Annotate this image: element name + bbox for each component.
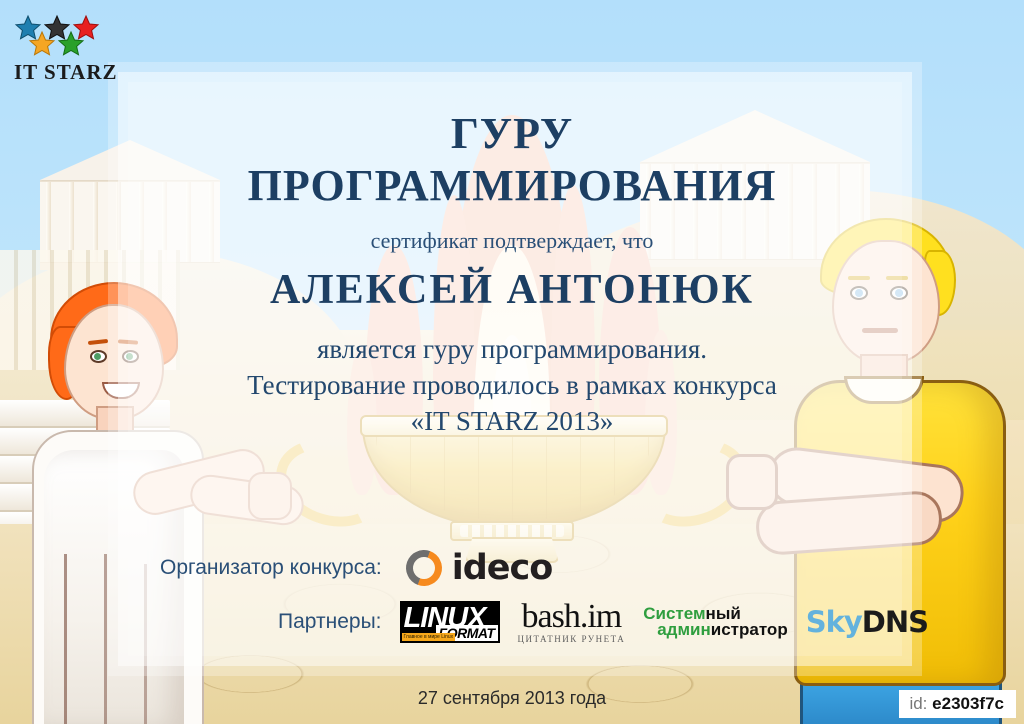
organizer-row: Организатор конкурса: ideco bbox=[160, 548, 552, 588]
logo-stars bbox=[14, 14, 120, 58]
partners-row: Партнеры: LINUX FORMAT Главное в мире Li… bbox=[278, 600, 928, 644]
linux-format-logo[interactable]: LINUX FORMAT Главное в мире Linux bbox=[400, 601, 500, 643]
bash-im-logo[interactable]: bash.im ЦИТАТНИК РУНЕТА bbox=[518, 600, 626, 644]
skydns-sky: Sky bbox=[806, 605, 862, 639]
sistemny-administrator-logo[interactable]: Системный администратор bbox=[643, 606, 788, 637]
certificate-canvas: IT STARZ ГУРУ ПРОГРАММИРОВАНИЯ сертифика… bbox=[0, 0, 1024, 724]
it-starz-logo[interactable]: IT STARZ bbox=[14, 14, 120, 92]
certificate-id-label: id: bbox=[909, 694, 927, 713]
certificate-title-line1: ГУРУ bbox=[0, 108, 1024, 159]
bash-im-tagline: ЦИТАТНИК РУНЕТА bbox=[518, 635, 626, 644]
certificate-title-line2: ПРОГРАММИРОВАНИЯ bbox=[0, 160, 1024, 211]
ideco-wordmark: ideco bbox=[452, 548, 553, 588]
certificate-confirm-text: сертификат подтверждает, что bbox=[0, 228, 1024, 254]
certificate-id-badge: id: e2303f7c bbox=[899, 690, 1016, 718]
partners-label: Партнеры: bbox=[278, 610, 382, 634]
organizer-label: Организатор конкурса: bbox=[160, 556, 382, 580]
sysadmin-line2: администратор bbox=[657, 620, 788, 639]
sysadmin-line2-black: истратор bbox=[711, 620, 788, 639]
ideco-swirl-icon bbox=[406, 550, 442, 586]
recipient-name: АЛЕКСЕЙ АНТОНЮК bbox=[0, 266, 1024, 314]
sysadmin-line2-green: админ bbox=[657, 620, 711, 639]
certificate-body-line3: «IT STARZ 2013» bbox=[0, 406, 1024, 437]
five-stars-icon bbox=[14, 14, 120, 60]
bash-im-wordmark: bash.im bbox=[522, 600, 622, 634]
ideco-logo[interactable]: ideco bbox=[406, 548, 553, 588]
certificate-body-line2: Тестирование проводилось в рамках конкур… bbox=[0, 370, 1024, 401]
logo-wordmark: IT STARZ bbox=[14, 60, 120, 85]
certificate-body-line1: является гуру программирования. bbox=[0, 334, 1024, 365]
linux-format-tagline: Главное в мире Linux bbox=[402, 633, 456, 641]
certificate-date: 27 сентября 2013 года bbox=[0, 688, 1024, 709]
certificate-id-value: e2303f7c bbox=[932, 694, 1004, 713]
skydns-logo[interactable]: SkyDNS bbox=[806, 605, 928, 639]
skydns-dns: DNS bbox=[862, 605, 928, 639]
